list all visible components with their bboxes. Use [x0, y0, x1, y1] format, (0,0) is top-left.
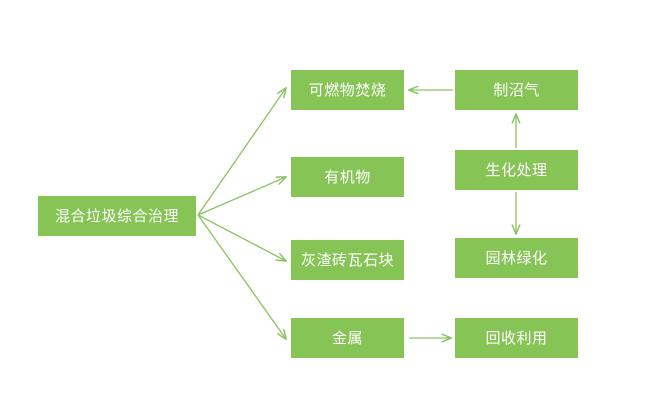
node-organic-matter-label: 有机物: [324, 170, 371, 185]
node-organic-matter[interactable]: 有机物: [291, 157, 404, 197]
edge-root-to-organic: [198, 177, 286, 215]
node-biogas-production[interactable]: 制沼气: [455, 70, 578, 110]
node-recycling-reuse[interactable]: 回收利用: [455, 318, 578, 358]
node-recycling-reuse-label: 回收利用: [485, 331, 547, 346]
node-biochemical-treatment[interactable]: 生化处理: [455, 150, 578, 190]
node-combustible-incineration-label: 可燃物焚烧: [309, 83, 387, 98]
node-biochemical-treatment-label: 生化处理: [485, 163, 547, 178]
node-metal-label: 金属: [332, 331, 363, 346]
node-ash-brick-tile-stone-label: 灰渣砖瓦石块: [301, 253, 394, 268]
edge-root-to-ash: [198, 215, 286, 261]
node-metal[interactable]: 金属: [291, 318, 404, 358]
edge-root-to-burn: [198, 88, 286, 215]
node-landscaping[interactable]: 园林绿化: [455, 238, 578, 278]
node-biogas-production-label: 制沼气: [493, 83, 540, 98]
node-root[interactable]: 混合垃圾综合治理: [38, 196, 196, 236]
edge-root-to-metal: [198, 215, 286, 339]
node-ash-brick-tile-stone[interactable]: 灰渣砖瓦石块: [291, 240, 404, 280]
node-landscaping-label: 园林绿化: [485, 251, 547, 266]
diagram-canvas: 混合垃圾综合治理 可燃物焚烧 有机物 灰渣砖瓦石块 金属 制沼气 生化处理 园林…: [0, 0, 648, 416]
node-combustible-incineration[interactable]: 可燃物焚烧: [291, 70, 404, 110]
node-root-label: 混合垃圾综合治理: [55, 209, 179, 224]
